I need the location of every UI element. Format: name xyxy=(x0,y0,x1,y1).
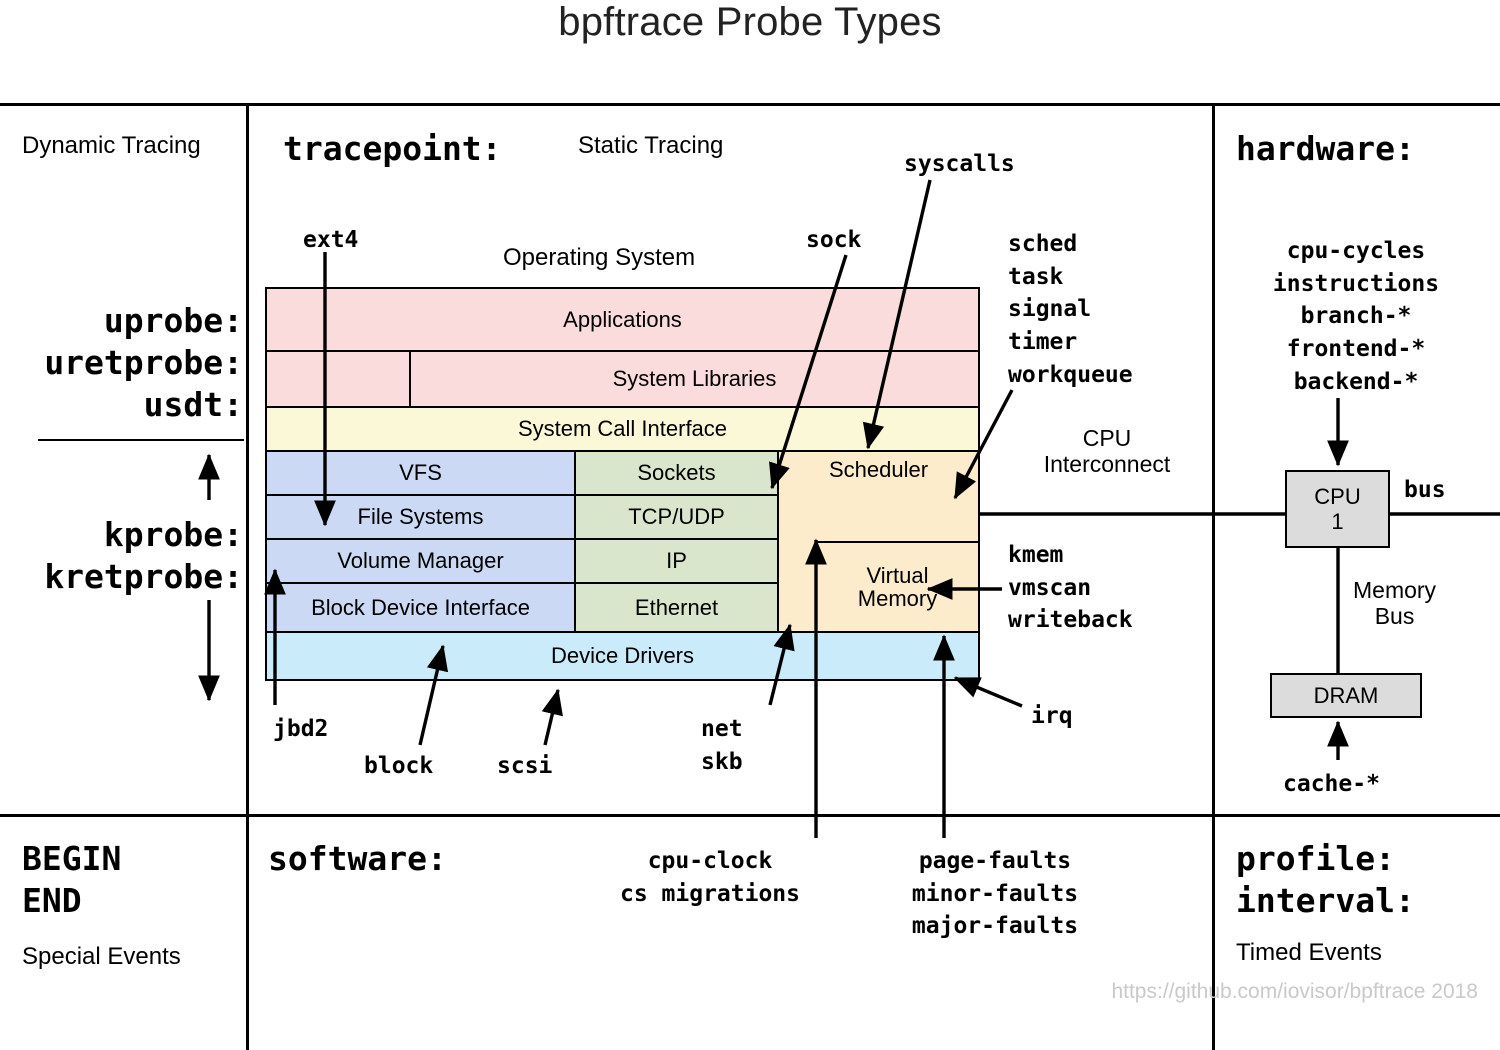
operating-system-caption: Operating System xyxy=(503,245,695,272)
software-fault-events: page-faults minor-faults major-faults xyxy=(880,845,1110,943)
credit-link: https://github.com/iovisor/bpftrace 2018 xyxy=(1111,980,1478,1004)
box-block-device-interface: Block Device Interface xyxy=(265,582,576,633)
box-block-device-interface-label: Block Device Interface xyxy=(311,596,530,619)
label-ext4: ext4 xyxy=(303,224,358,257)
kernel-probe-list: kprobe: kretprobe: xyxy=(0,514,243,598)
dram-box: DRAM xyxy=(1270,673,1422,718)
label-jbd2: jbd2 xyxy=(273,713,328,746)
box-tcp-udp: TCP/UDP xyxy=(574,494,779,540)
box-applications-lower xyxy=(265,350,411,408)
box-file-systems-label: File Systems xyxy=(358,505,484,528)
box-scheduler: Scheduler xyxy=(777,450,980,543)
box-vfs: VFS xyxy=(265,450,576,496)
label-sched-group: sched task signal timer workqueue xyxy=(1008,228,1133,391)
end-probe-label: END xyxy=(22,880,82,922)
box-volume-manager: Volume Manager xyxy=(265,538,576,584)
label-sock: sock xyxy=(806,224,861,257)
box-applications: Applications xyxy=(265,287,980,352)
arrow-scsi xyxy=(545,690,558,745)
box-system-call-interface-label: System Call Interface xyxy=(518,417,727,440)
hardware-heading: hardware: xyxy=(1236,128,1415,170)
box-applications-label: Applications xyxy=(563,308,682,331)
memory-bus-label: Memory Bus xyxy=(1353,578,1436,630)
timed-heading: profile: interval: xyxy=(1236,838,1415,922)
tracepoint-heading: tracepoint: xyxy=(283,128,502,170)
label-irq: irq xyxy=(1031,700,1073,733)
timed-events-caption: Timed Events xyxy=(1236,940,1382,967)
box-ip-label: IP xyxy=(666,549,687,572)
box-kernel-filler xyxy=(777,541,817,633)
cpu-interconnect-label: CPU Interconnect xyxy=(1027,426,1187,478)
box-virtual-memory-label: Virtual Memory xyxy=(858,564,937,610)
static-tracing-caption: Static Tracing xyxy=(578,133,723,160)
dynamic-panel-separator xyxy=(38,439,244,441)
page-title: bpftrace Probe Types xyxy=(0,0,1500,45)
box-tcp-udp-label: TCP/UDP xyxy=(628,505,725,528)
label-syscalls: syscalls xyxy=(904,148,1015,181)
box-ip: IP xyxy=(574,538,779,584)
cache-label: cache-* xyxy=(1283,768,1380,801)
bus-label: bus xyxy=(1404,474,1446,507)
box-system-call-interface: System Call Interface xyxy=(265,406,980,452)
cpu-box-label: CPU 1 xyxy=(1314,484,1360,535)
label-block: block xyxy=(364,750,433,783)
box-volume-manager-label: Volume Manager xyxy=(337,549,503,572)
box-ethernet: Ethernet xyxy=(574,582,779,633)
os-stack-diagram: Applications System Libraries System Cal… xyxy=(265,287,980,696)
dram-box-label: DRAM xyxy=(1314,683,1379,708)
box-system-libraries: System Libraries xyxy=(409,350,980,408)
label-mem-group: kmem vmscan writeback xyxy=(1008,539,1133,637)
frame-left-divider xyxy=(246,103,249,1050)
box-file-systems: File Systems xyxy=(265,494,576,540)
dynamic-tracing-heading: Dynamic Tracing xyxy=(22,133,201,160)
label-scsi: scsi xyxy=(497,750,552,783)
box-ethernet-label: Ethernet xyxy=(635,596,718,619)
label-net-skb: net skb xyxy=(701,713,743,778)
box-scheduler-label: Scheduler xyxy=(829,458,928,481)
user-probe-list: uprobe: uretprobe: usdt: xyxy=(0,300,243,426)
frame-bottom-rule xyxy=(0,814,1500,817)
cpu-box: CPU 1 xyxy=(1285,470,1390,548)
box-virtual-memory: Virtual Memory xyxy=(815,541,980,633)
box-sockets-label: Sockets xyxy=(637,461,715,484)
software-cpu-events: cpu-clock cs migrations xyxy=(590,845,830,910)
box-device-drivers: Device Drivers xyxy=(265,631,980,681)
box-sockets: Sockets xyxy=(574,450,779,496)
box-system-libraries-label: System Libraries xyxy=(613,367,777,390)
frame-top-rule xyxy=(0,103,1500,106)
hardware-event-list: cpu-cycles instructions branch-* fronten… xyxy=(1212,235,1500,398)
box-vfs-label: VFS xyxy=(399,461,442,484)
special-events-caption: Special Events xyxy=(22,944,181,971)
software-heading: software: xyxy=(268,838,447,880)
begin-probe-label: BEGIN xyxy=(22,838,121,880)
box-device-drivers-label: Device Drivers xyxy=(551,644,694,667)
